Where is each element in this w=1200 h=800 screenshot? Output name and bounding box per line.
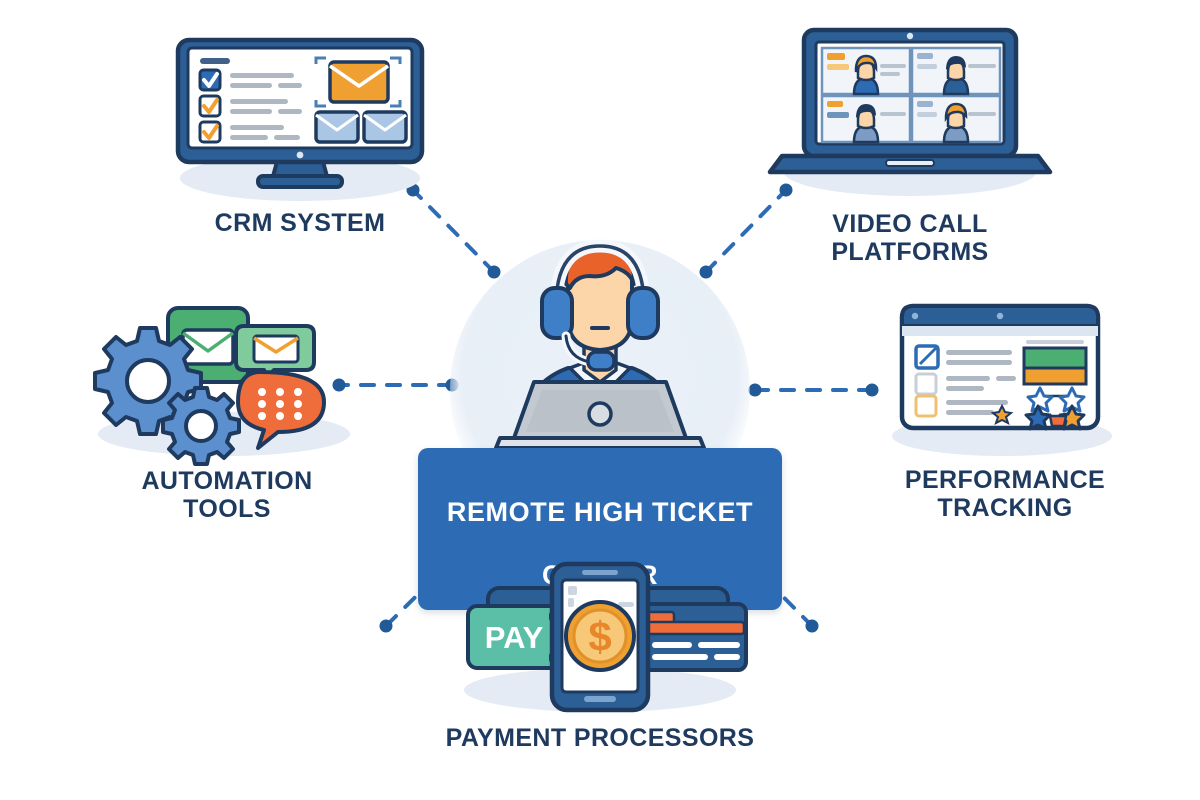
pay-card-text: PAY: [485, 620, 544, 655]
node-performance-label: PERFORMANCE TRACKING: [880, 466, 1130, 522]
node-video-call-platforms[interactable]: VIDEO CALL PLATFORMS: [760, 20, 1060, 266]
connector-dot: [866, 384, 879, 397]
connector-dot: [806, 620, 819, 633]
phone-dollar-coin-cards-icon: PAY: [440, 552, 760, 712]
node-crm-system[interactable]: CRM SYSTEM: [150, 28, 450, 237]
node-video-label: VIDEO CALL PLATFORMS: [760, 210, 1060, 266]
payment-art: PAY: [440, 552, 760, 712]
hub-title-line-1: REMOTE HIGH TICKET: [447, 497, 753, 527]
node-performance-tracking[interactable]: PERFORMANCE TRACKING: [880, 296, 1130, 522]
node-payment-processors[interactable]: PAY: [440, 552, 760, 752]
node-automation-tools[interactable]: AUTOMATION TOOLS: [82, 292, 372, 523]
headset-agent-at-laptop-icon: [418, 232, 782, 452]
video-art: [760, 20, 1060, 200]
performance-art: [880, 296, 1130, 456]
node-automation-label: AUTOMATION TOOLS: [82, 467, 372, 523]
crm-art: [150, 28, 450, 203]
automation-art: [82, 292, 372, 457]
node-payment-label: PAYMENT PROCESSORS: [440, 724, 760, 752]
node-crm-label: CRM SYSTEM: [150, 209, 450, 237]
browser-dashboard-stars-icon: [880, 296, 1130, 456]
dollar-symbol: $: [588, 613, 611, 660]
desktop-monitor-checklist-email-icon: [150, 28, 450, 203]
gears-email-chat-bubbles-icon: [82, 292, 372, 457]
laptop-video-conference-grid-icon: [760, 20, 1060, 200]
connector-dot: [380, 620, 393, 633]
diagram-canvas: REMOTE HIGH TICKET CLOSER: [0, 0, 1200, 800]
